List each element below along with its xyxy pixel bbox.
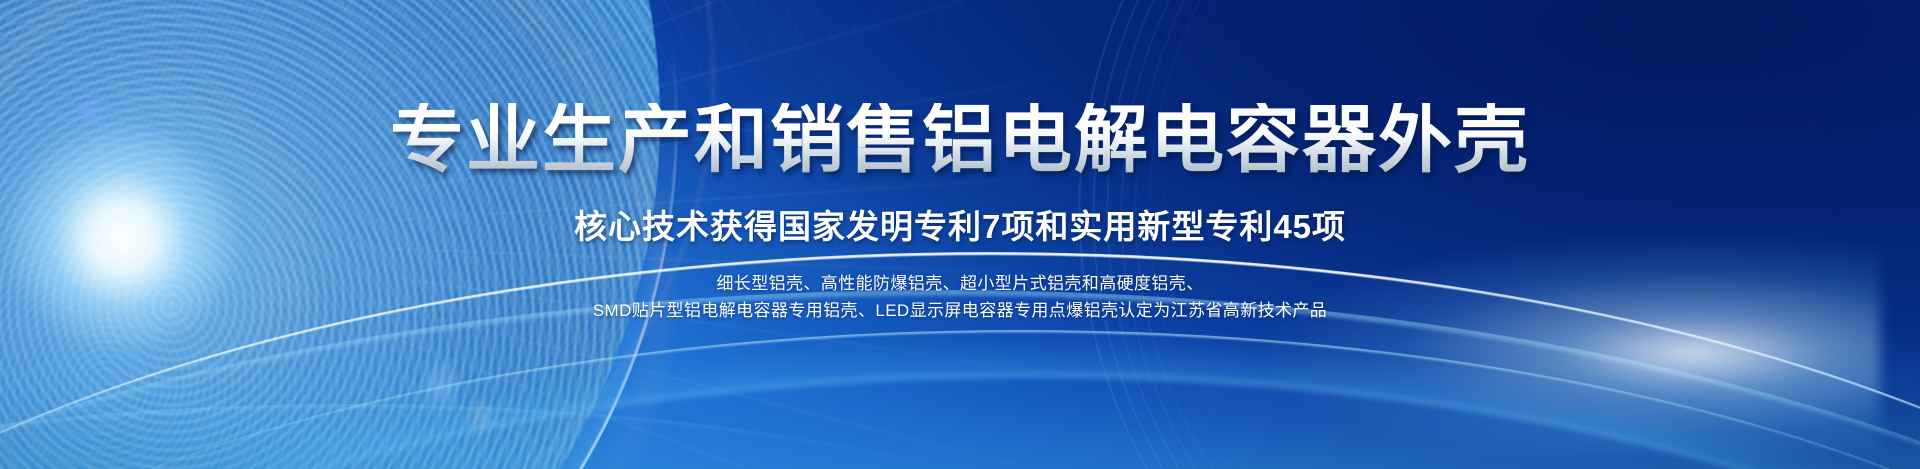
banner-detail-block: 细长型铝壳、高性能防爆铝壳、超小型片式铝壳和高硬度铝壳、 SMD贴片型铝电解电容… [593, 271, 1327, 324]
banner-detail-line-2: SMD贴片型铝电解电容器专用铝壳、LED显示屏电容器专用点爆铝壳认定为江苏省高新… [593, 298, 1327, 324]
banner-content: 专业生产和销售铝电解电容器外壳 核心技术获得国家发明专利7项和实用新型专利45项… [0, 0, 1920, 469]
hero-banner: 专业生产和销售铝电解电容器外壳 核心技术获得国家发明专利7项和实用新型专利45项… [0, 0, 1920, 469]
banner-detail-line-1: 细长型铝壳、高性能防爆铝壳、超小型片式铝壳和高硬度铝壳、 [593, 271, 1327, 297]
banner-headline: 专业生产和销售铝电解电容器外壳 [390, 103, 1530, 177]
banner-subheadline: 核心技术获得国家发明专利7项和实用新型专利45项 [574, 209, 1346, 245]
